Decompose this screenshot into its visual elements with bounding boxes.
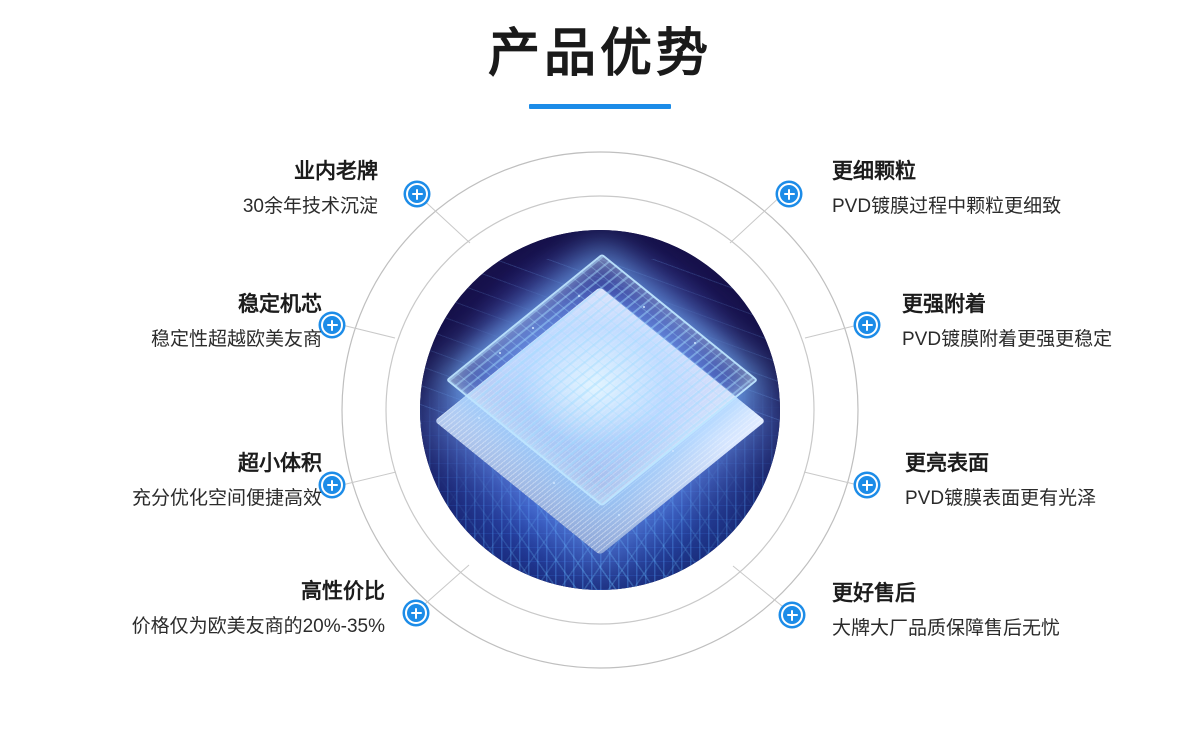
plus-glyph (787, 610, 798, 621)
feature-title: 稳定机芯 (151, 291, 322, 318)
feature-right-1[interactable]: 更细颗粒 PVD镀膜过程中颗粒更细致 (832, 158, 1061, 220)
feature-desc: PVD镀膜附着更强更稳定 (902, 327, 1112, 353)
advantages-infographic: 产品优势 (0, 0, 1200, 750)
feature-left-4[interactable]: 高性价比 价格仅为欧美友商的20%-35% (132, 578, 385, 640)
plus-glyph (862, 480, 873, 491)
feature-title: 业内老牌 (243, 158, 378, 185)
feature-desc: 30余年技术沉淀 (243, 194, 378, 220)
sparkle-dots (420, 230, 780, 590)
connector-line-6 (805, 325, 858, 338)
plus-glyph (327, 480, 338, 491)
feature-title: 超小体积 (132, 450, 322, 477)
feature-left-2[interactable]: 稳定机芯 稳定性超越欧美友商 (151, 291, 322, 353)
feature-title: 高性价比 (132, 578, 385, 605)
feature-left-3[interactable]: 超小体积 充分优化空间便捷高效 (132, 450, 322, 512)
plus-circle-icon-1[interactable] (406, 183, 428, 205)
plus-circle-icon-3[interactable] (321, 474, 343, 496)
feature-desc: 大牌大厂品质保障售后无忧 (832, 616, 1060, 642)
plus-circle-icon-6[interactable] (856, 314, 878, 336)
plus-circle-icon-5[interactable] (778, 183, 800, 205)
feature-desc: 充分优化空间便捷高效 (132, 486, 322, 512)
feature-right-4[interactable]: 更好售后 大牌大厂品质保障售后无忧 (832, 580, 1060, 642)
feature-title: 更细颗粒 (832, 158, 1061, 185)
plus-glyph (784, 189, 795, 200)
feature-desc: PVD镀膜过程中颗粒更细致 (832, 194, 1061, 220)
plus-circle-icon-7[interactable] (856, 474, 878, 496)
feature-desc: PVD镀膜表面更有光泽 (905, 486, 1096, 512)
feature-right-2[interactable]: 更强附着 PVD镀膜附着更强更稳定 (902, 291, 1112, 353)
plus-glyph (411, 608, 422, 619)
feature-title: 更好售后 (832, 580, 1060, 607)
feature-desc: 价格仅为欧美友商的20%-35% (132, 614, 385, 640)
connector-line-2 (342, 325, 395, 338)
plus-glyph (412, 189, 423, 200)
chip-image (420, 230, 780, 590)
feature-desc: 稳定性超越欧美友商 (151, 327, 322, 353)
plus-circle-icon-2[interactable] (321, 314, 343, 336)
plus-glyph (862, 320, 873, 331)
feature-left-1[interactable]: 业内老牌 30余年技术沉淀 (243, 158, 378, 220)
plus-glyph (327, 320, 338, 331)
feature-right-3[interactable]: 更亮表面 PVD镀膜表面更有光泽 (905, 450, 1096, 512)
plus-circle-icon-8[interactable] (781, 604, 803, 626)
plus-circle-icon-4[interactable] (405, 602, 427, 624)
feature-title: 更亮表面 (905, 450, 1096, 477)
feature-title: 更强附着 (902, 291, 1112, 318)
